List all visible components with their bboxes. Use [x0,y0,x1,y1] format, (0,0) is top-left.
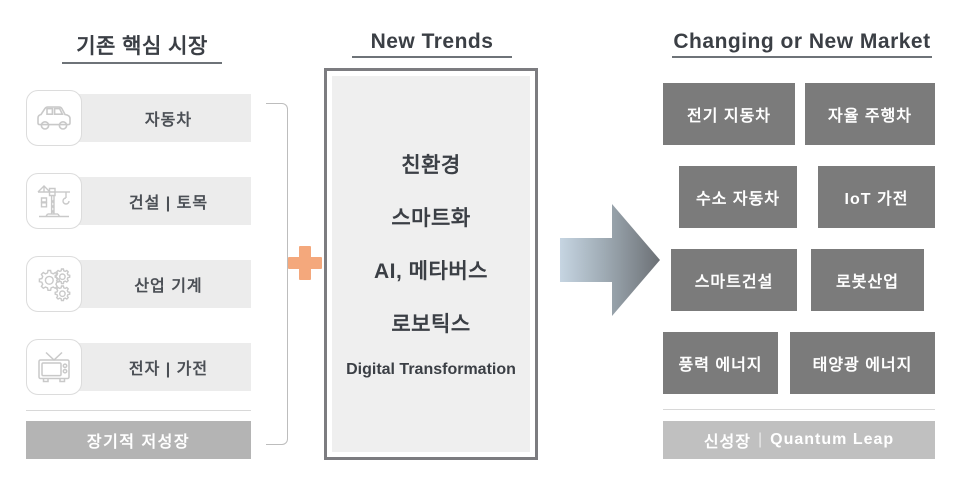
market-row-label: 전자 | 가전 [56,343,251,391]
market-box-robot-industry: 로봇산업 [811,249,924,311]
trend-item: 스마트화 [391,202,470,232]
tv-icon [26,339,82,395]
long-term-low-growth-bar: 장기적 저성장 [26,421,251,459]
market-row-electronics: 전자 | 가전 [26,339,251,395]
quantum-leap-label: Quantum Leap [770,431,894,449]
new-growth-quantum-leap-bar: 신성장 | Quantum Leap [663,421,935,459]
market-row-automotive: 자동차 [26,90,251,146]
market-box-solar-energy: 태양광 에너지 [790,332,935,394]
diagram-canvas: 기존 핵심 시장 New Trends Changing or New Mark… [0,0,960,489]
new-trends-panel: 친환경 스마트화 AI, 메타버스 로보틱스 Digital Transform… [324,68,538,460]
car-icon [26,90,82,146]
market-row-label: 자동차 [56,94,251,142]
trend-item: 친환경 [401,149,460,179]
separator: | [751,431,770,449]
column-header-existing-market: 기존 핵심 시장 [62,30,222,64]
market-row-construction: 건설 | 토목 [26,173,251,229]
bracket-icon [266,103,288,445]
column-header-changing-market: Changing or New Market [672,30,932,58]
market-box-iot-appliance: IoT 가전 [818,166,935,228]
gears-icon [26,256,82,312]
new-growth-label: 신성장 [704,428,751,452]
market-row-label: 산업 기계 [56,260,251,308]
market-box-autonomous: 자율 주행차 [805,83,935,145]
trend-item: 로보틱스 [391,308,470,338]
market-row-industrial-machinery: 산업 기계 [26,256,251,312]
market-box-smart-construction: 스마트건설 [671,249,797,311]
market-box-wind-energy: 풍력 에너지 [663,332,778,394]
crane-icon [26,173,82,229]
plus-icon [288,246,322,280]
trend-item: AI, 메타버스 [374,255,488,285]
market-box-ev: 전기 지동차 [663,83,795,145]
trend-item-digital-transformation: Digital Transformation [346,361,516,379]
market-row-label: 건설 | 토목 [56,177,251,225]
left-divider [26,410,251,411]
column-header-new-trends: New Trends [352,30,512,58]
right-divider [663,409,935,410]
right-arrow-icon [560,200,660,320]
market-box-hydrogen: 수소 자동차 [679,166,797,228]
